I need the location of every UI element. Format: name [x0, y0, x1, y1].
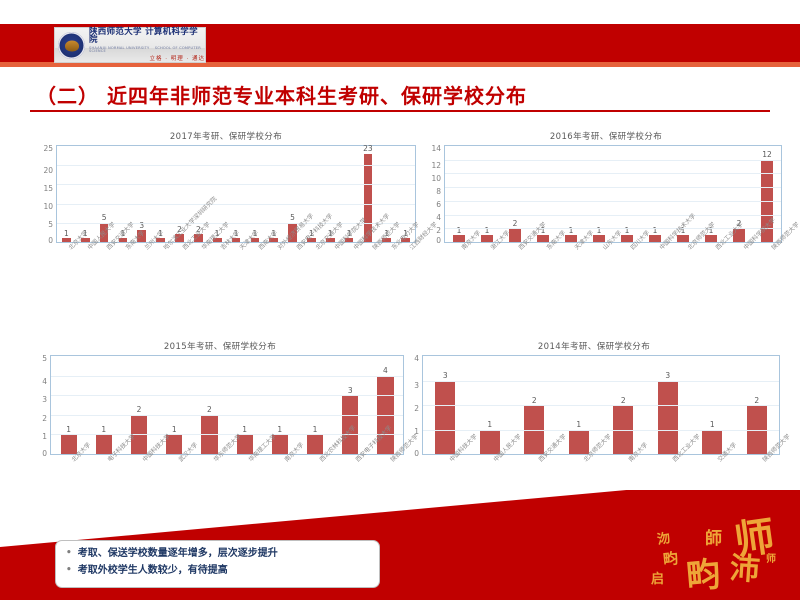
gridline [57, 165, 415, 166]
bar-item: 1 [76, 146, 95, 242]
bar-item: 1 [245, 146, 264, 242]
y-tick-label: 0 [48, 237, 53, 245]
chart-title: 2015年考研、保研学校分布 [36, 340, 404, 352]
bar-value-label: 1 [277, 426, 282, 434]
bar-value-label: 1 [64, 230, 69, 238]
y-tick-label: 4 [42, 377, 47, 385]
callout-bullet: • 考取外校学生人数较少，有待提高 [66, 564, 369, 579]
x-axis-labels: 北京大学电子科技大学中国科技大学武汉大学华东师范大学华南理工大学南京大学西北农林… [50, 455, 404, 456]
chart-2017: 2017年考研、保研学校分布 2520151050 11513122111151… [36, 130, 416, 244]
y-axis: 2520151050 [36, 145, 56, 243]
y-tick-label: 2 [42, 414, 47, 422]
y-tick-label: 15 [43, 185, 53, 193]
bar-value-label: 5 [290, 214, 295, 222]
bar-value-label: 1 [576, 421, 581, 429]
y-tick-label: 20 [43, 167, 53, 175]
bar-value-label: 3 [443, 372, 448, 380]
gridline [51, 376, 403, 377]
chart-title: 2014年考研、保研学校分布 [408, 340, 780, 352]
gridline [57, 204, 415, 205]
callout-bullet: • 考取、保送学校数量逐年增多，层次逐步提升 [66, 547, 369, 562]
bar-item: 1 [297, 356, 332, 454]
gridline [51, 415, 403, 416]
bar-item: 1 [51, 356, 86, 454]
y-tick-label: 2 [436, 226, 441, 234]
gridline [423, 381, 779, 382]
bar-item: 2 [192, 356, 227, 454]
y-tick-label: 0 [414, 449, 419, 457]
y-tick-label: 1 [42, 433, 47, 441]
bar-value-label: 1 [487, 421, 492, 429]
bar-value-label: 3 [665, 372, 670, 380]
bar-value-label: 1 [710, 421, 715, 429]
y-tick-label: 6 [436, 200, 441, 208]
y-tick-label: 10 [43, 203, 53, 211]
university-logo: 陕西师范大学 计算机科学学院 SHAANXI NORMAL UNIVERSITY… [55, 28, 205, 62]
y-tick-label: 25 [43, 145, 53, 153]
y-tick-label: 3 [42, 396, 47, 404]
title-divider [30, 110, 770, 112]
x-axis-labels: 南京大学浙江大学西安交通大学东南大学天津大学山东大学四川大学中国科学技术大学北京… [444, 243, 782, 244]
bar-value-label: 1 [242, 426, 247, 434]
y-tick-label: 3 [414, 382, 419, 390]
gridline [57, 184, 415, 185]
bar-value-label: 12 [762, 151, 772, 159]
gridline [445, 173, 781, 174]
logo-motto: 立格 · 明理 · 通达 [89, 57, 205, 63]
bullet-dot-icon: • [66, 547, 72, 561]
y-axis: 543210 [36, 355, 50, 455]
chart-2015: 2015年考研、保研学校分布 543210 1121211134 北京大学电子科… [36, 340, 404, 456]
gridline [445, 201, 781, 202]
callout-bullet-text: 考取、保送学校数量逐年增多，层次逐步提升 [78, 547, 278, 562]
y-tick-label: 10 [431, 175, 441, 183]
y-axis: 14121086420 [430, 145, 444, 243]
y-tick-label: 14 [431, 145, 441, 153]
bar [658, 381, 678, 455]
bar-value-label: 1 [172, 426, 177, 434]
bar-item: 1 [264, 146, 283, 242]
y-tick-label: 5 [48, 221, 53, 229]
bar-value-label: 1 [101, 426, 106, 434]
x-axis-labels: 北京大学中国人民大学西安交通大学东南大学兰州大学哈尔滨工业大学深圳研究院西北工业… [56, 243, 416, 244]
bar-value-label: 2 [207, 406, 212, 414]
callout-bullet-text: 考取外校学生人数较少，有待提高 [78, 564, 228, 579]
y-tick-label: 5 [42, 355, 47, 363]
bar-item: 1 [227, 146, 246, 242]
gridline [445, 215, 781, 216]
y-tick-label: 4 [414, 355, 419, 363]
y-tick-label: 0 [436, 237, 441, 245]
chart-title: 2016年考研、保研学校分布 [430, 130, 782, 142]
bar [307, 434, 323, 454]
gridline [445, 187, 781, 188]
chart-2016: 2016年考研、保研学校分布 14121086420 1121111111212… [430, 130, 782, 244]
gridline [51, 395, 403, 396]
bullet-dot-icon: • [66, 564, 72, 578]
bar-value-label: 2 [754, 397, 759, 405]
bar-value-label: 2 [532, 397, 537, 405]
bar [702, 430, 722, 455]
y-tick-label: 1 [414, 428, 419, 436]
bar-value-label: 1 [313, 426, 318, 434]
gridline [445, 160, 781, 161]
y-tick-label: 8 [436, 188, 441, 196]
summary-callout: • 考取、保送学校数量逐年增多，层次逐步提升 • 考取外校学生人数较少，有待提高 [55, 540, 380, 588]
y-tick-label: 2 [414, 405, 419, 413]
bar-item: 1 [86, 356, 121, 454]
gridline [423, 405, 779, 406]
gridline [423, 430, 779, 431]
x-axis-labels: 中国科技大学中国人民大学西安交通大学北京师范大学南京大学西北工业大学交通大学陕西… [422, 455, 780, 456]
y-tick-label: 12 [431, 162, 441, 170]
university-seal-icon [58, 32, 85, 59]
bar-value-label: 5 [102, 214, 107, 222]
bar-value-label: 1 [66, 426, 71, 434]
bar-value-label: 2 [513, 220, 518, 228]
y-tick-label: 4 [436, 213, 441, 221]
header-band-accent [0, 62, 800, 67]
bar-value-label: 2 [621, 397, 626, 405]
bar-value-label: 4 [383, 367, 388, 375]
chart-2014: 2014年考研、保研学校分布 43210 31212312 中国科技大学中国人民… [408, 340, 780, 456]
y-tick-label: 0 [42, 449, 47, 457]
bar-item: 1 [57, 146, 76, 242]
bar-item: 1 [151, 146, 170, 242]
bar-value-label: 23 [363, 145, 373, 153]
bar-item: 3 [132, 146, 151, 242]
bar-value-label: 2 [137, 406, 142, 414]
page-title: （二） 近四年非师范专业本科生考研、保研学校分布 [36, 80, 756, 109]
bar-value-label: 3 [348, 387, 353, 395]
bar [435, 381, 455, 455]
chart-title: 2017年考研、保研学校分布 [36, 130, 416, 142]
y-axis: 43210 [408, 355, 422, 455]
